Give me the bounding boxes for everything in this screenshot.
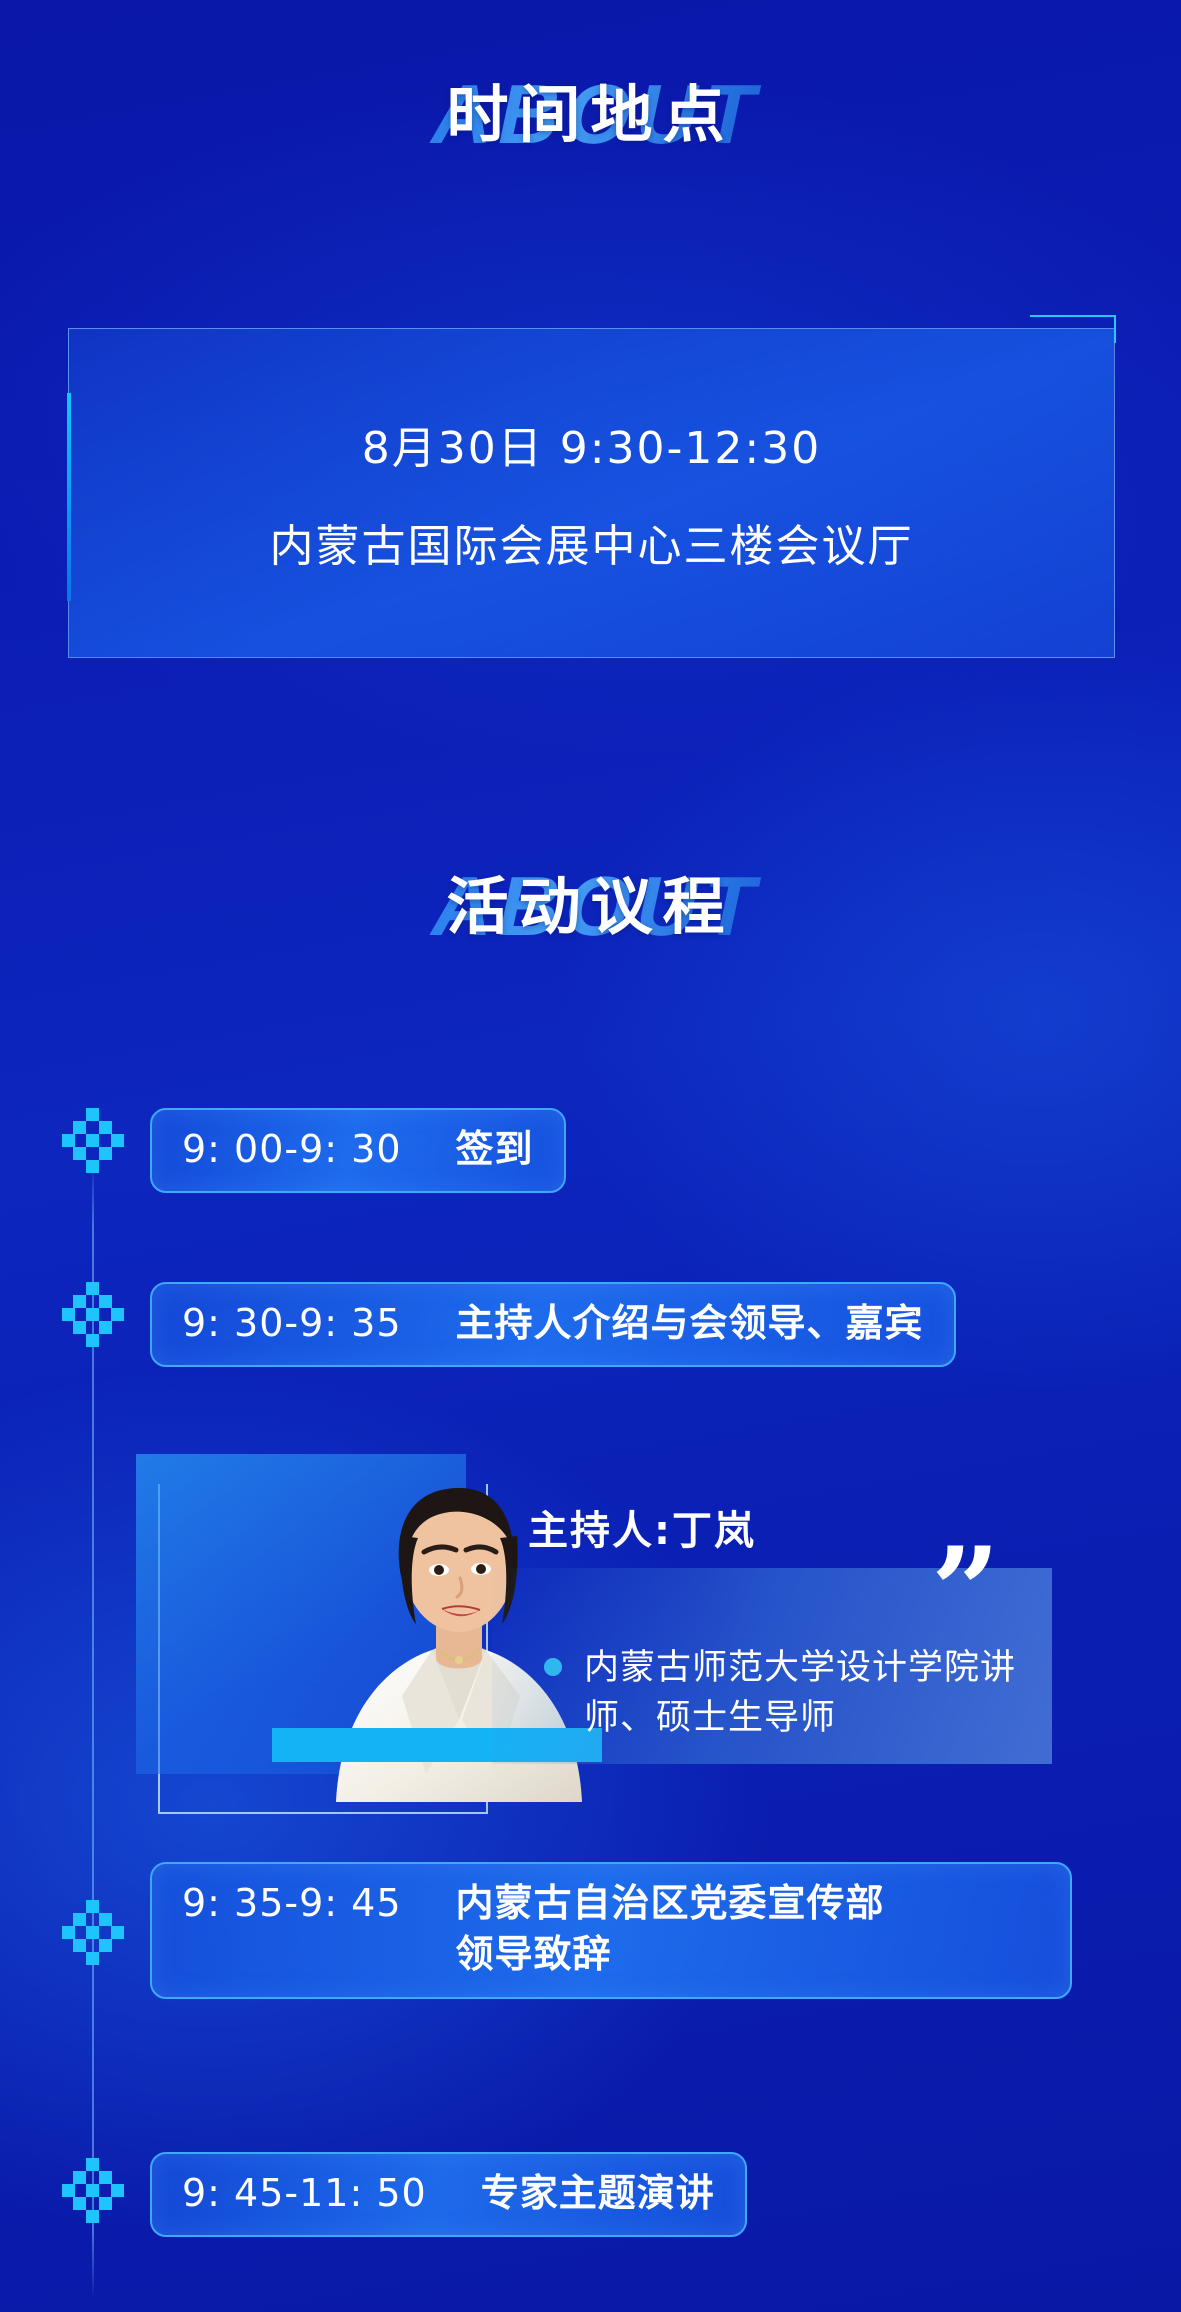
- agenda-time-3: 9: 35-9: 45: [182, 1878, 402, 1929]
- event-date-time: 8月30日 9:30-12:30: [362, 412, 821, 476]
- agenda-title-2: 主持人介绍与会领导、嘉宾: [456, 1298, 924, 1349]
- host-name: 主持人:丁岚: [520, 1496, 764, 1560]
- timeline-marker-4: [62, 2158, 124, 2220]
- time-place-card: 8月30日 9:30-12:30 内蒙古国际会展中心三楼会议厅: [68, 328, 1115, 658]
- section-heading-time-place: ABOUT 时间地点: [0, 66, 1181, 158]
- agenda-row-4[interactable]: 9: 45-11: 50 专家主题演讲: [150, 2152, 747, 2237]
- host-bio: 内蒙古师范大学设计学院讲师、硕士生导师: [544, 1644, 1064, 1743]
- agenda-row-3[interactable]: 9: 35-9: 45 内蒙古自治区党委宣传部 领导致辞: [150, 1862, 1072, 1999]
- quote-mark-icon: ”: [931, 1532, 992, 1652]
- section-heading-agenda: ABOUT 活动议程: [0, 858, 1181, 950]
- event-venue: 内蒙古国际会展中心三楼会议厅: [270, 510, 914, 574]
- timeline-marker-1: [62, 1108, 124, 1170]
- page-title-time-place: 时间地点: [436, 66, 744, 158]
- agenda-time-4: 9: 45-11: 50: [182, 2168, 427, 2219]
- agenda-pill-3[interactable]: 9: 35-9: 45 内蒙古自治区党委宣传部 领导致辞: [150, 1862, 1072, 1999]
- agenda-title-4: 专家主题演讲: [481, 2168, 715, 2219]
- host-profile: ” 主持人:丁岚 内蒙古师范大学设计学院讲师、硕士生导师: [0, 1432, 1181, 1812]
- agenda-title-1: 签到: [456, 1124, 534, 1175]
- agenda-time-2: 9: 30-9: 35: [182, 1298, 402, 1349]
- agenda-pill-2[interactable]: 9: 30-9: 35 主持人介绍与会领导、嘉宾: [150, 1282, 956, 1367]
- agenda-pill-1[interactable]: 9: 00-9: 30 签到: [150, 1108, 566, 1193]
- photo-frame: [136, 1454, 466, 1774]
- agenda-title-3: 内蒙古自治区党委宣传部 领导致辞: [456, 1878, 885, 1981]
- host-bio-text: 内蒙古师范大学设计学院讲师、硕士生导师: [584, 1644, 1064, 1743]
- agenda-pill-4[interactable]: 9: 45-11: 50 专家主题演讲: [150, 2152, 747, 2237]
- corner-accent-icon: [1030, 315, 1116, 343]
- page-title-agenda: 活动议程: [436, 858, 744, 950]
- agenda-row-2[interactable]: 9: 30-9: 35 主持人介绍与会领导、嘉宾: [150, 1282, 956, 1367]
- bullet-dot-icon: [544, 1658, 562, 1676]
- timeline-marker-3: [62, 1900, 124, 1962]
- timeline-marker-2: [62, 1282, 124, 1344]
- agenda-time-1: 9: 00-9: 30: [182, 1124, 402, 1175]
- agenda-row-1[interactable]: 9: 00-9: 30 签到: [150, 1108, 566, 1193]
